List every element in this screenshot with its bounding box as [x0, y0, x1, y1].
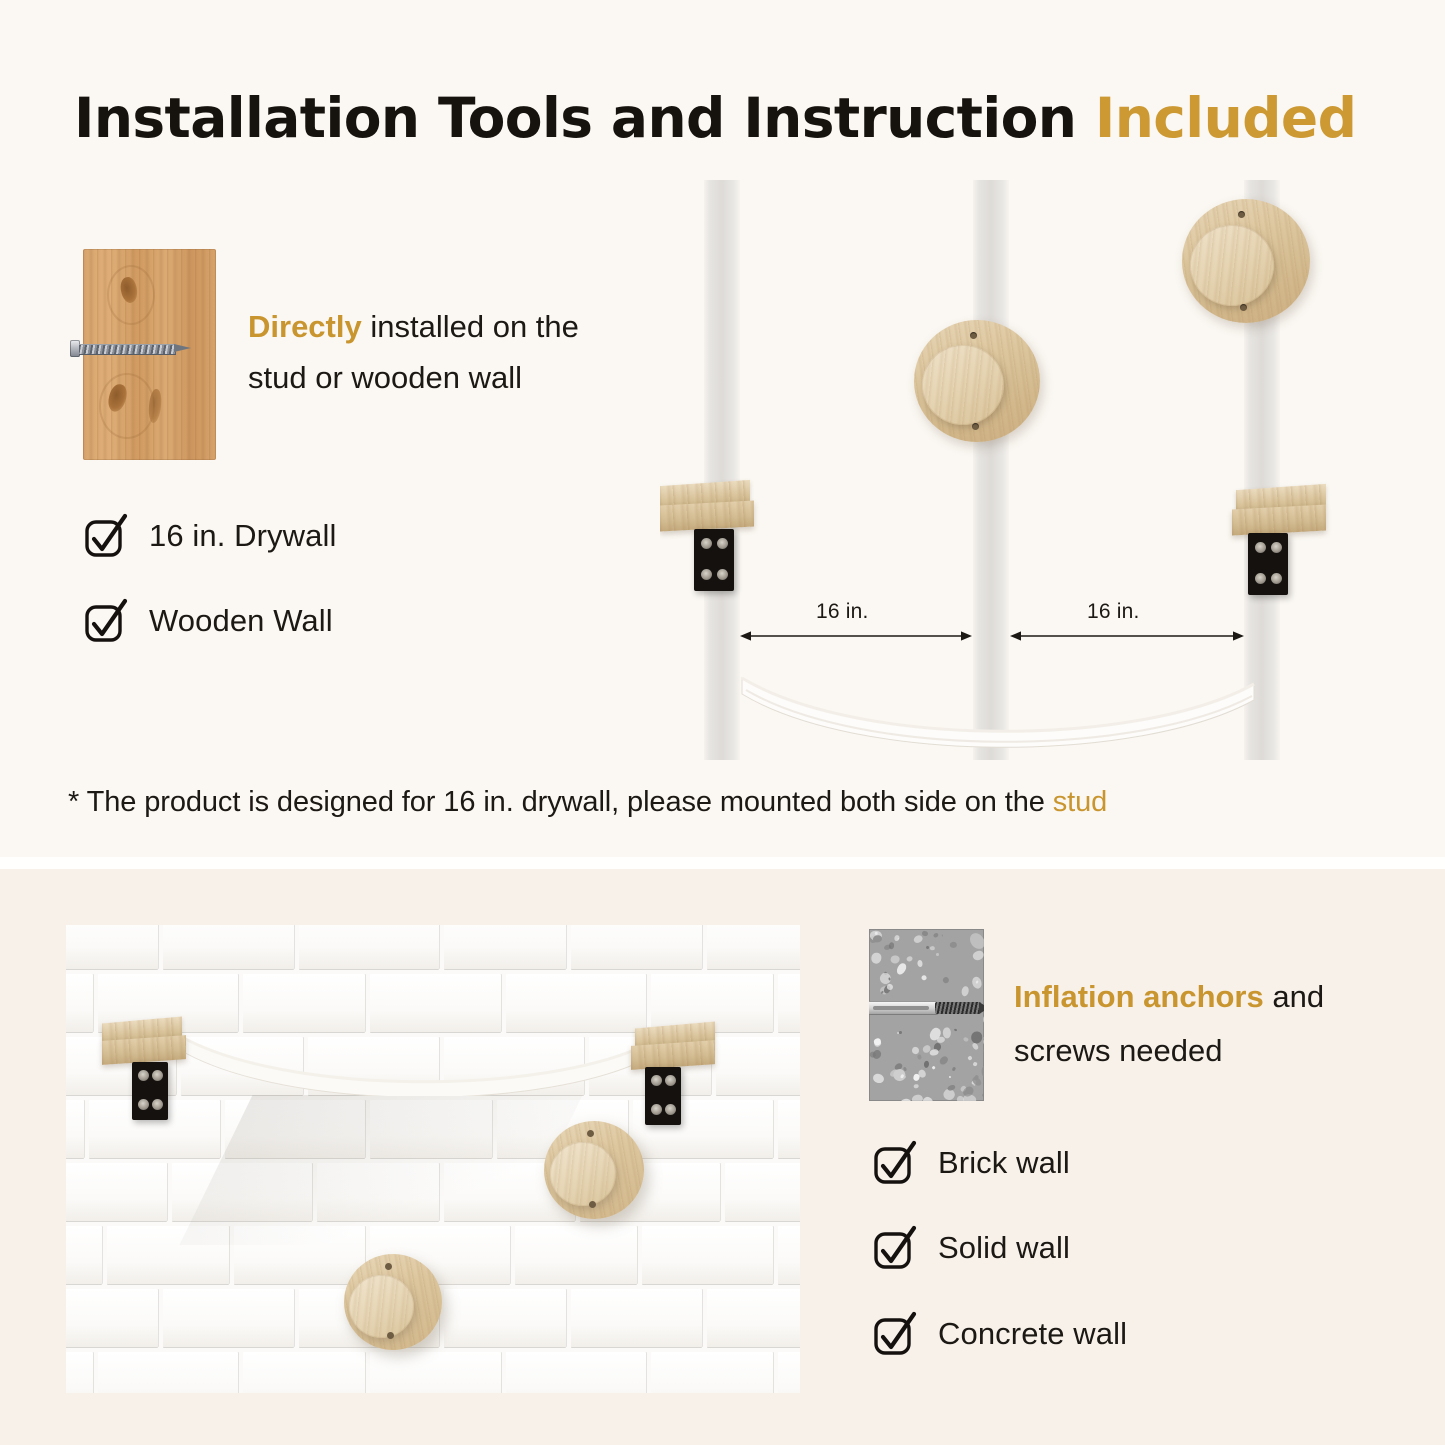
plate-screw — [1271, 573, 1282, 584]
wood-screw-icon — [70, 340, 194, 357]
checklist-label: 16 in. Drywall — [149, 518, 336, 554]
brick — [243, 1352, 365, 1393]
mount-screw-hole — [1238, 211, 1245, 218]
mount-screw-hole — [970, 332, 977, 339]
infographic-page: Installation Tools and Instruction Inclu… — [0, 0, 1445, 1445]
wood-grain-swirl — [99, 373, 155, 439]
aggregate-speck — [972, 949, 984, 961]
brick — [66, 1226, 102, 1284]
plate-screw — [138, 1070, 149, 1081]
plate-screw — [152, 1099, 163, 1110]
plate-screw — [665, 1104, 676, 1115]
plate-screw — [651, 1104, 662, 1115]
mount-step-cylinder — [922, 345, 1004, 425]
checklist-label: Wooden Wall — [149, 603, 333, 639]
plate-screw — [665, 1075, 676, 1086]
bracket-wood-bottom — [660, 501, 754, 532]
aggregate-speck — [924, 1061, 929, 1068]
hammock-bracket-right — [631, 1025, 721, 1155]
canvas-hammock — [176, 1030, 656, 1096]
brick — [778, 974, 800, 1032]
plate-screw — [717, 538, 728, 549]
hammock-bracket-left — [102, 1020, 192, 1150]
brick — [651, 1352, 773, 1393]
brick — [225, 1100, 365, 1158]
plate-screw — [717, 569, 728, 580]
checklist-item-brick-wall[interactable]: Brick wall — [872, 1139, 1070, 1186]
mount-step-cylinder — [1190, 225, 1274, 306]
aggregate-speck — [981, 1064, 984, 1081]
brick — [707, 925, 800, 969]
bracket-wood-bottom — [102, 1035, 186, 1065]
brick — [725, 1163, 800, 1221]
plate-screw — [1271, 542, 1282, 553]
brick — [370, 1100, 492, 1158]
brick — [107, 1226, 229, 1284]
aggregate-speck — [916, 1054, 921, 1060]
aggregate-speck — [872, 1073, 885, 1085]
aggregate-speck — [951, 1066, 956, 1071]
aggregate-speck — [936, 953, 939, 956]
brick — [444, 1289, 566, 1347]
brick — [778, 1226, 800, 1284]
checklist-label: Solid wall — [938, 1230, 1070, 1266]
bracket-metal-plate — [694, 529, 734, 591]
aggregate-speck — [870, 952, 881, 963]
checklist-label: Brick wall — [938, 1145, 1070, 1181]
aggregate-speck — [920, 974, 927, 981]
aggregate-speck — [891, 956, 900, 964]
aggregate-speck — [953, 1028, 957, 1031]
aggregate-speck — [968, 931, 984, 952]
hammock-bracket-right — [1232, 487, 1328, 617]
page-title: Installation Tools and Instruction Inclu… — [74, 86, 1356, 150]
stud-mounting-diagram: 16 in. 16 in. — [660, 180, 1420, 760]
aggregate-speck — [971, 1031, 982, 1043]
aggregate-speck — [896, 1032, 899, 1035]
brick — [66, 925, 158, 969]
aggregate-speck — [906, 956, 913, 963]
brick — [66, 1100, 84, 1158]
aggregate-speck — [903, 1066, 907, 1071]
aggregate-speck — [960, 986, 968, 997]
brick — [66, 1163, 167, 1221]
mount-step-cylinder — [349, 1275, 414, 1338]
checklist-item-concrete-wall[interactable]: Concrete wall — [872, 1310, 1127, 1357]
anchor-threaded-screw — [935, 1002, 981, 1014]
brick — [66, 974, 93, 1032]
plate-screw — [1255, 573, 1266, 584]
brick — [243, 974, 365, 1032]
mount-screw-hole — [587, 1130, 594, 1137]
brick — [163, 925, 294, 969]
aggregate-speck — [971, 976, 983, 990]
aggregate-speck — [930, 946, 935, 951]
checkbox-checked-icon[interactable] — [83, 597, 130, 644]
anchor-sleeve — [869, 1001, 939, 1015]
mount-screw-hole — [972, 423, 979, 430]
plate-screw — [651, 1075, 662, 1086]
checklist-item-wooden-wall[interactable]: Wooden Wall — [83, 597, 333, 644]
aggregate-speck — [972, 1062, 977, 1067]
aggregate-speck — [916, 960, 922, 967]
checkbox-checked-icon[interactable] — [872, 1310, 919, 1357]
bracket-metal-plate — [132, 1062, 168, 1120]
footnote-accent: stud — [1053, 786, 1107, 818]
page-title-main: Installation Tools and Instruction — [74, 86, 1095, 150]
aggregate-speck — [938, 1055, 949, 1067]
brick — [642, 1226, 773, 1284]
brick — [370, 1352, 501, 1393]
aggregate-speck — [913, 935, 924, 945]
directly-installed-text: Directly installed on the stud or wooden… — [248, 301, 608, 403]
anchor-cone-tip — [979, 1002, 984, 1014]
bracket-wood-bottom — [1232, 505, 1326, 536]
inflation-accent: Inflation anchors — [1014, 979, 1264, 1014]
brick — [317, 1163, 439, 1221]
aggregate-speck — [972, 1042, 980, 1050]
aggregate-speck — [941, 934, 943, 937]
brick — [515, 1226, 637, 1284]
mount-screw-hole — [1240, 304, 1247, 311]
aggregate-speck — [913, 1084, 918, 1089]
brick — [716, 1037, 800, 1095]
brick — [778, 1100, 800, 1158]
aggregate-speck — [894, 935, 900, 942]
brick — [299, 925, 439, 969]
brick — [571, 1289, 702, 1347]
brick — [98, 1352, 238, 1393]
brick — [163, 1289, 294, 1347]
aggregate-speck — [942, 976, 950, 984]
mount-step-cylinder — [550, 1142, 616, 1206]
aggregate-speck — [967, 1056, 972, 1061]
screw-tip — [174, 344, 191, 352]
plate-screw — [701, 569, 712, 580]
brick-wall-installation-photo — [66, 925, 800, 1393]
screw-shaft — [79, 344, 176, 355]
brick — [571, 925, 702, 969]
aggregate-speck — [982, 1047, 984, 1054]
aggregate-speck — [949, 1076, 951, 1078]
section-divider — [0, 857, 1445, 869]
aggregate-speck — [933, 932, 939, 938]
checklist-label: Concrete wall — [938, 1316, 1127, 1352]
aggregate-speck — [931, 1066, 935, 1070]
hammock-bracket-left — [660, 483, 756, 613]
bracket-metal-plate — [645, 1067, 681, 1125]
mount-screw-hole — [589, 1201, 596, 1208]
checklist-item-drywall[interactable]: 16 in. Drywall — [83, 512, 336, 559]
brick — [66, 1352, 93, 1393]
aggregate-speck — [872, 934, 882, 943]
dimension-right: 16 in. — [1010, 600, 1244, 650]
brick — [506, 1352, 646, 1393]
checkbox-checked-icon[interactable] — [872, 1139, 919, 1186]
plate-screw — [1255, 542, 1266, 553]
wall-stud-left — [704, 180, 740, 760]
canvas-hammock — [738, 670, 1258, 748]
aggregate-speck — [899, 1031, 902, 1034]
brick — [172, 1163, 312, 1221]
brick — [778, 1352, 800, 1393]
brick — [234, 1226, 365, 1284]
directly-accent: Directly — [248, 309, 362, 344]
aggregate-speck — [889, 942, 895, 949]
mount-screw-hole — [385, 1263, 392, 1270]
aggregate-speck — [981, 1094, 984, 1099]
brick — [444, 925, 566, 969]
checklist-item-solid-wall[interactable]: Solid wall — [872, 1224, 1070, 1271]
aggregate-speck — [922, 931, 928, 937]
footnote: * The product is designed for 16 in. dry… — [68, 786, 1107, 819]
dimension-left: 16 in. — [740, 600, 972, 650]
page-title-accent: Included — [1095, 86, 1356, 150]
dimension-label: 16 in. — [1087, 600, 1140, 624]
inflation-anchor-icon — [869, 999, 984, 1017]
brick — [66, 1289, 158, 1347]
checkbox-checked-icon[interactable] — [872, 1224, 919, 1271]
inflation-anchors-text: Inflation anchors and screws needed — [1014, 970, 1414, 1078]
aggregate-speck — [963, 1036, 969, 1042]
brick — [506, 974, 646, 1032]
brick — [370, 974, 501, 1032]
dimension-label: 16 in. — [816, 600, 869, 624]
aggregate-speck — [950, 941, 958, 948]
plate-screw — [138, 1099, 149, 1110]
mount-screw-hole — [387, 1332, 394, 1339]
aggregate-speck — [896, 962, 908, 976]
checkbox-checked-icon[interactable] — [83, 512, 130, 559]
plate-screw — [701, 538, 712, 549]
bracket-metal-plate — [1248, 533, 1288, 595]
brick — [707, 1289, 800, 1347]
bracket-wood-bottom — [631, 1040, 715, 1070]
plate-screw — [152, 1070, 163, 1081]
footnote-lead: * The product is designed for 16 in. dry… — [68, 786, 1053, 818]
concrete-wall-with-anchor-icon — [869, 929, 984, 1101]
